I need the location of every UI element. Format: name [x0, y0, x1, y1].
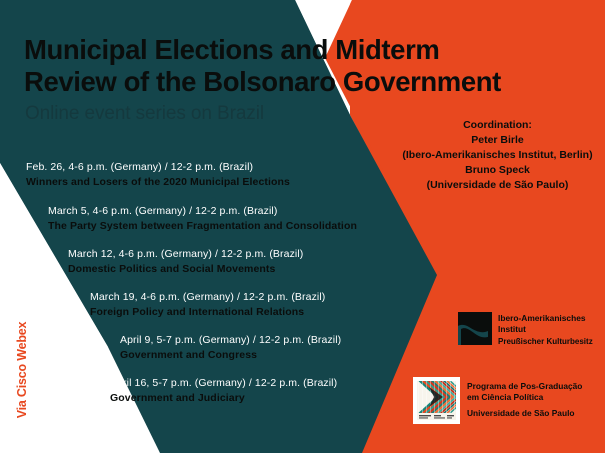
usp-logo-icon	[413, 377, 460, 424]
iai-name-line-1: Ibero-Amerikanisches	[498, 313, 593, 324]
usp-logo-text: Programa de Pos-Graduação em Ciência Pol…	[467, 381, 582, 419]
list-item: March 12, 4-6 p.m. (Germany) / 12-2 p.m.…	[68, 247, 303, 276]
event-datetime: March 19, 4-6 p.m. (Germany) / 12-2 p.m.…	[90, 290, 325, 304]
event-title: Domestic Politics and Social Movements	[68, 262, 303, 276]
logo-usp-ciencia-politica: Programa de Pos-Graduação em Ciência Pol…	[413, 377, 582, 424]
event-title: Government and Congress	[120, 348, 341, 362]
list-item: April 9, 5-7 p.m. (Germany) / 12-2 p.m. …	[120, 333, 341, 362]
iai-logo-text: Ibero-Amerikanisches Institut Preußische…	[498, 313, 593, 348]
event-title: The Party System between Fragmentation a…	[48, 219, 357, 233]
usp-subtitle: Universidade de São Paulo	[467, 408, 582, 419]
poster: Municipal Elections and Midterm Review o…	[0, 0, 605, 453]
list-item: March 19, 4-6 p.m. (Germany) / 12-2 p.m.…	[90, 290, 325, 319]
event-datetime: March 12, 4-6 p.m. (Germany) / 12-2 p.m.…	[68, 247, 303, 261]
event-title: Winners and Losers of the 2020 Municipal…	[26, 175, 290, 189]
event-datetime: April 16, 5-7 p.m. (Germany) / 12-2 p.m.…	[110, 376, 337, 390]
usp-name-line-1: Programa de Pos-Graduação	[467, 381, 582, 392]
list-item: April 16, 5-7 p.m. (Germany) / 12-2 p.m.…	[110, 376, 337, 405]
poster-content: Municipal Elections and Midterm Review o…	[0, 0, 605, 453]
iai-logo-icon	[458, 312, 492, 345]
event-title: Government and Judiciary	[110, 391, 337, 405]
platform-label: Via Cisco Webex	[15, 315, 29, 425]
iai-subtitle: Preußischer Kulturbesitz	[498, 337, 593, 348]
logo-ibero-amerikanisches-institut: Ibero-Amerikanisches Institut Preußische…	[458, 312, 593, 348]
list-item: March 5, 4-6 p.m. (Germany) / 12-2 p.m. …	[48, 204, 357, 233]
event-datetime: April 9, 5-7 p.m. (Germany) / 12-2 p.m. …	[120, 333, 341, 347]
event-title: Foreign Policy and International Relatio…	[90, 305, 325, 319]
event-datetime: March 5, 4-6 p.m. (Germany) / 12-2 p.m. …	[48, 204, 357, 218]
list-item: Feb. 26, 4-6 p.m. (Germany) / 12-2 p.m. …	[26, 160, 290, 189]
event-datetime: Feb. 26, 4-6 p.m. (Germany) / 12-2 p.m. …	[26, 160, 290, 174]
usp-name-line-2: em Ciência Política	[467, 392, 582, 403]
iai-name-line-2: Institut	[498, 324, 593, 335]
